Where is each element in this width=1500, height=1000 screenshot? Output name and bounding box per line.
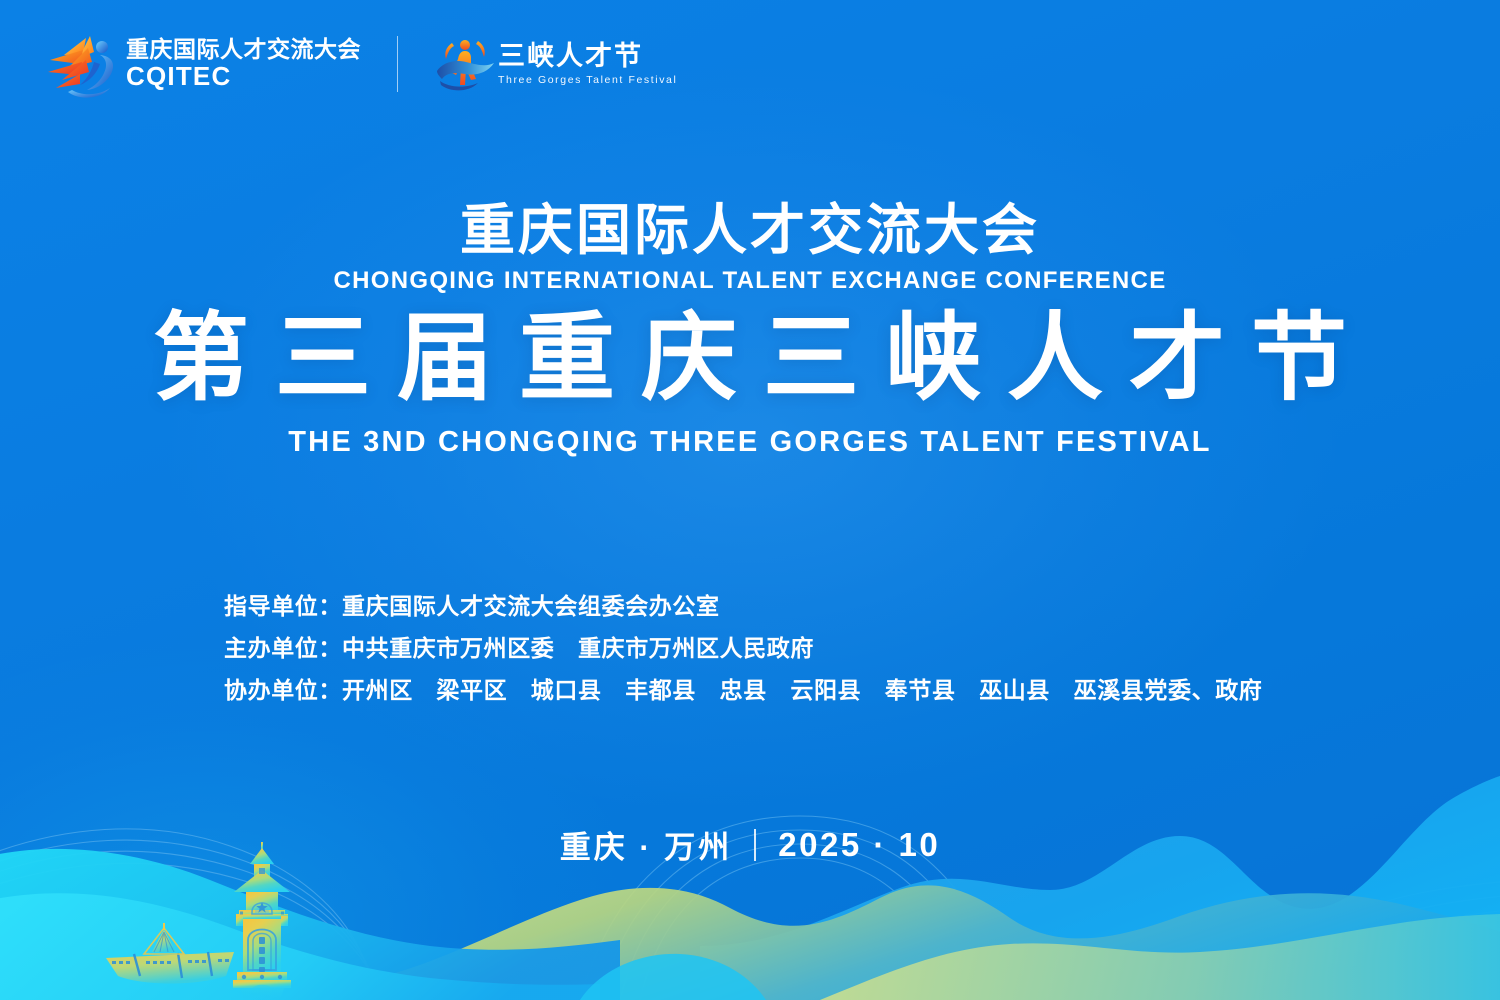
organizer-line-guidance: 指导单位：重庆国际人才交流大会组委会办公室 [224, 585, 1262, 627]
organizer-block: 指导单位：重庆国际人才交流大会组委会办公室 主办单位：中共重庆市万州区委 重庆市… [224, 585, 1262, 711]
logo-divider [397, 36, 398, 92]
logo-cqitec[interactable]: 重庆国际人才交流大会 CQITEC [42, 28, 361, 100]
poster-canvas: 重庆国际人才交流大会 CQITEC [0, 0, 1500, 1000]
logo-three-gorges-cn: 三峡人才节 [498, 41, 677, 71]
logo-cqitec-cn: 重庆国际人才交流大会 [126, 37, 361, 62]
cqitec-phoenix-logo-icon [42, 28, 126, 100]
logo-three-gorges[interactable]: 三峡人才节 Three Gorges Talent Festival [432, 33, 677, 95]
title-group: 重庆国际人才交流大会 CHONGQING INTERNATIONAL TALEN… [0, 200, 1500, 460]
organizer-line-host: 主办单位：中共重庆市万州区委 重庆市万州区人民政府 [224, 627, 1262, 669]
logo-cqitec-text: 重庆国际人才交流大会 CQITEC [126, 37, 361, 91]
three-gorges-talent-festival-logo-icon [432, 33, 498, 95]
festival-title-en: THE 3ND CHONGQING THREE GORGES TALENT FE… [0, 425, 1500, 460]
conference-title-en: CHONGQING INTERNATIONAL TALENT EXCHANGE … [0, 267, 1500, 296]
footer-separator [754, 829, 756, 861]
organizer-line-coorganizer: 协办单位：开州区 梁平区 城口县 丰都县 忠县 云阳县 奉节县 巫山县 巫溪县党… [224, 669, 1262, 711]
festival-title-cn: 第三届重庆三峡人才节 [0, 305, 1500, 413]
footer-place: 重庆 · 万州 [560, 822, 733, 867]
logo-cqitec-en: CQITEC [126, 62, 361, 91]
footer-date-bar: 重庆 · 万州 2025 · 10 [0, 822, 1500, 867]
logo-three-gorges-text: 三峡人才节 Three Gorges Talent Festival [498, 41, 677, 88]
conference-title-cn: 重庆国际人才交流大会 [0, 200, 1500, 262]
footer-date: 2025 · 10 [778, 826, 940, 864]
header-logo-bar: 重庆国际人才交流大会 CQITEC [42, 28, 677, 100]
logo-three-gorges-en: Three Gorges Talent Festival [498, 74, 677, 88]
